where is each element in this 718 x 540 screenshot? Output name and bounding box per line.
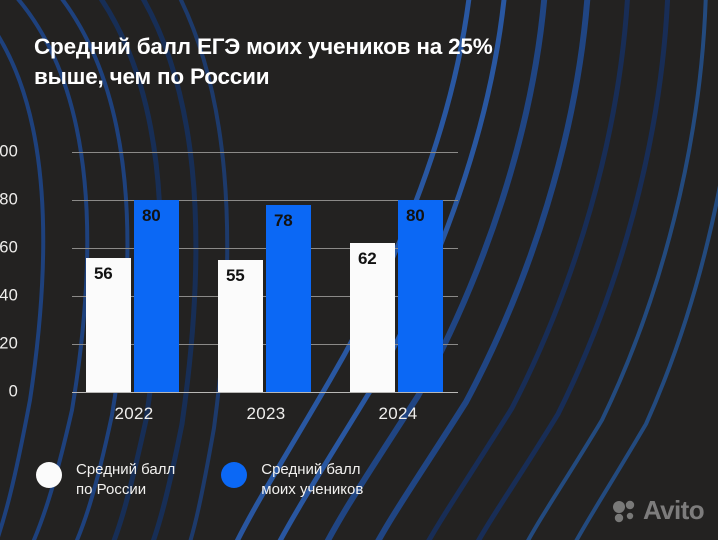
bar-2023-students[interactable]: 78 <box>266 205 311 392</box>
bar-value-2022-russia: 56 <box>94 264 113 284</box>
y-tick-label-40: 40 <box>0 287 18 306</box>
legend-label-students: Средний балл моих учеников <box>261 460 363 501</box>
bar-group-2024: 62 80 <box>350 152 443 392</box>
bar-group-2023: 55 78 <box>218 152 311 392</box>
bar-chart: 100 80 60 40 20 0 <box>0 140 480 430</box>
avito-watermark: Avito <box>612 495 704 526</box>
page-title: Средний балл ЕГЭ моих учеников на 25% вы… <box>34 32 644 92</box>
bar-value-2022-students: 80 <box>142 206 161 226</box>
plot-area: 56 80 55 78 62 80 <box>72 152 458 392</box>
x-tick-label-2023: 2023 <box>218 404 314 424</box>
y-tick-label-20: 20 <box>0 335 18 354</box>
legend-label-russia: Средний балл по России <box>76 460 175 501</box>
chart-legend: Средний балл по России Средний балл моих… <box>36 460 363 501</box>
y-tick-label-0: 0 <box>0 383 18 402</box>
x-tick-label-2022: 2022 <box>86 404 182 424</box>
bar-value-2023-russia: 55 <box>226 266 245 286</box>
bar-value-2023-students: 78 <box>274 211 293 231</box>
y-tick-label-80: 80 <box>0 191 18 210</box>
x-tick-label-2024: 2024 <box>350 404 446 424</box>
legend-circle-icon-blue <box>221 462 247 488</box>
bar-value-2024-russia: 62 <box>358 249 377 269</box>
bar-2024-students[interactable]: 80 <box>398 200 443 392</box>
legend-item-russia[interactable]: Средний балл по России <box>36 460 175 501</box>
avito-dots-logo-icon <box>612 499 638 523</box>
avito-watermark-text: Avito <box>643 495 704 526</box>
bar-2024-russia[interactable]: 62 <box>350 243 395 392</box>
bar-2022-russia[interactable]: 56 <box>86 258 131 392</box>
legend-item-students[interactable]: Средний балл моих учеников <box>221 460 363 501</box>
legend-circle-icon-white <box>36 462 62 488</box>
bar-group-2022: 56 80 <box>86 152 179 392</box>
bar-2022-students[interactable]: 80 <box>134 200 179 392</box>
y-tick-label-100: 100 <box>0 143 18 162</box>
gridline-0 <box>72 392 458 393</box>
y-tick-label-60: 60 <box>0 239 18 258</box>
bar-2023-russia[interactable]: 55 <box>218 260 263 392</box>
bar-value-2024-students: 80 <box>406 206 425 226</box>
